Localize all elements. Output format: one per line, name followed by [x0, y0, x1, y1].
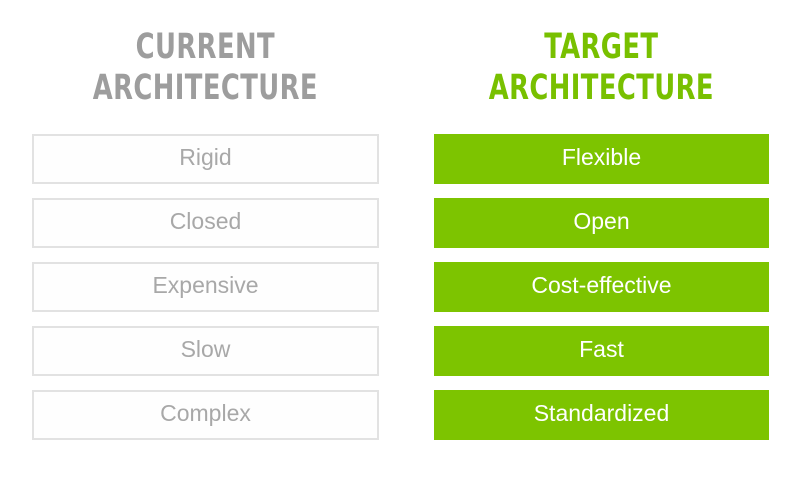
list-item: Open	[434, 198, 769, 248]
comparison-columns: CURRENT ARCHITECTURE Rigid Closed Expens…	[0, 0, 800, 478]
list-item-label: Fast	[579, 338, 624, 363]
list-item-label: Open	[573, 210, 629, 235]
list-item-label: Flexible	[562, 146, 641, 171]
column-current-architecture: CURRENT ARCHITECTURE Rigid Closed Expens…	[0, 0, 411, 478]
list-item: Cost-effective	[434, 262, 769, 312]
current-architecture-heading: CURRENT ARCHITECTURE	[93, 27, 318, 109]
list-item-label: Slow	[181, 338, 231, 363]
list-item-label: Complex	[160, 402, 251, 427]
list-item-label: Closed	[170, 210, 242, 235]
current-architecture-list: Rigid Closed Expensive Slow Complex	[32, 134, 379, 440]
column-target-architecture: TARGET ARCHITECTURE Flexible Open Cost-e…	[411, 0, 800, 478]
target-architecture-list: Flexible Open Cost-effective Fast Standa…	[434, 134, 769, 440]
list-item-label: Cost-effective	[531, 274, 671, 299]
list-item-label: Expensive	[152, 274, 258, 299]
list-item: Complex	[32, 390, 379, 440]
list-item: Expensive	[32, 262, 379, 312]
architecture-comparison-infographic: CURRENT ARCHITECTURE Rigid Closed Expens…	[0, 0, 800, 478]
list-item: Flexible	[434, 134, 769, 184]
list-item: Rigid	[32, 134, 379, 184]
list-item-label: Standardized	[534, 402, 670, 427]
list-item: Slow	[32, 326, 379, 376]
list-item: Closed	[32, 198, 379, 248]
target-architecture-heading: TARGET ARCHITECTURE	[489, 27, 714, 109]
list-item: Standardized	[434, 390, 769, 440]
list-item-label: Rigid	[179, 146, 231, 171]
list-item: Fast	[434, 326, 769, 376]
